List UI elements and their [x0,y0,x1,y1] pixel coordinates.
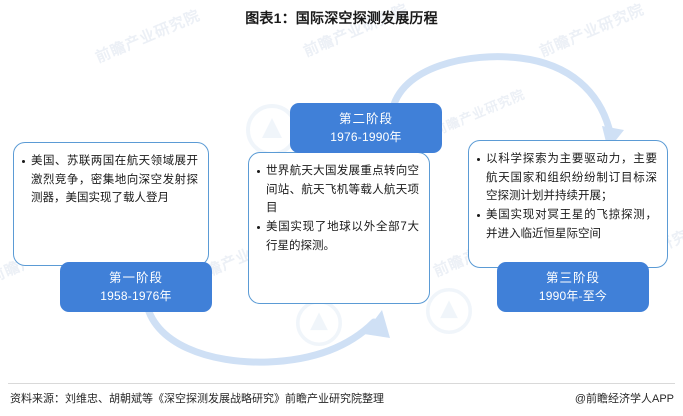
stage-3-years: 1990年-至今 [539,287,607,305]
stage-1-years: 1958-1976年 [100,287,171,305]
stage-2-years: 1976-1990年 [330,128,401,146]
stage-2-content-card: 世界航天大国发展重点转向空间站、航天飞机等载人航天项目 美国实现了地球以外全部7… [248,152,430,304]
stage-3-content-card: 以科学探索为主要驱动力，主要航天国家和组织纷纷制订目标深空探测计划并持续开展； … [468,140,668,268]
brand-note: @前瞻经济学人APP [575,390,674,406]
list-item: 世界航天大国发展重点转向空间站、航天飞机等载人航天项目 [257,162,419,218]
stage-2-label-box[interactable]: 第二阶段 1976-1990年 [290,103,442,153]
stage-1-bullet-list: 美国、苏联两国在航天领域展开激烈竞争，密集地向深空发射探测器，美国实现了载人登月 [22,152,198,208]
watermark-text: 前瞻产业研究院 [430,84,528,140]
list-item: 美国实现对冥王星的飞掠探测，并进入临近恒星际空间 [477,206,657,243]
chart-canvas: 前瞻产业研究院 前瞻产业研究院 前瞻产业研究院 前瞻产业研究院 前瞻产业研究院 … [0,0,683,416]
stage-2-bullet-list: 世界航天大国发展重点转向空间站、航天飞机等载人航天项目 美国实现了地球以外全部7… [257,162,419,255]
list-item: 美国实现了地球以外全部7大行星的探测。 [257,218,419,255]
list-item: 美国、苏联两国在航天领域展开激烈竞争，密集地向深空发射探测器，美国实现了载人登月 [22,152,198,208]
footer-divider [8,383,675,384]
list-item: 以科学探索为主要驱动力，主要航天国家和组织纷纷制订目标深空探测计划并持续开展； [477,150,657,206]
chart-title: 图表1：国际深空探测发展历程 [0,8,683,28]
stage-2-name: 第二阶段 [339,110,393,129]
stage-3-name: 第三阶段 [546,269,600,288]
stage-3-label-box[interactable]: 第三阶段 1990年-至今 [497,262,649,312]
arrow-head-bottom-icon [364,310,390,338]
stage-1-name: 第一阶段 [109,269,163,288]
watermark-logo-icon [296,300,342,346]
stage-3-bullet-list: 以科学探索为主要驱动力，主要航天国家和组织纷纷制订目标深空探测计划并持续开展； … [477,150,657,243]
stage-1-label-box[interactable]: 第一阶段 1958-1976年 [60,262,212,312]
watermark-logo-icon [426,288,472,334]
source-note: 资料来源：刘维忠、胡朝斌等《深空探测发展战略研究》前瞻产业研究院整理 [10,390,384,406]
stage-1-content-card: 美国、苏联两国在航天领域展开激烈竞争，密集地向深空发射探测器，美国实现了载人登月 [13,142,209,266]
